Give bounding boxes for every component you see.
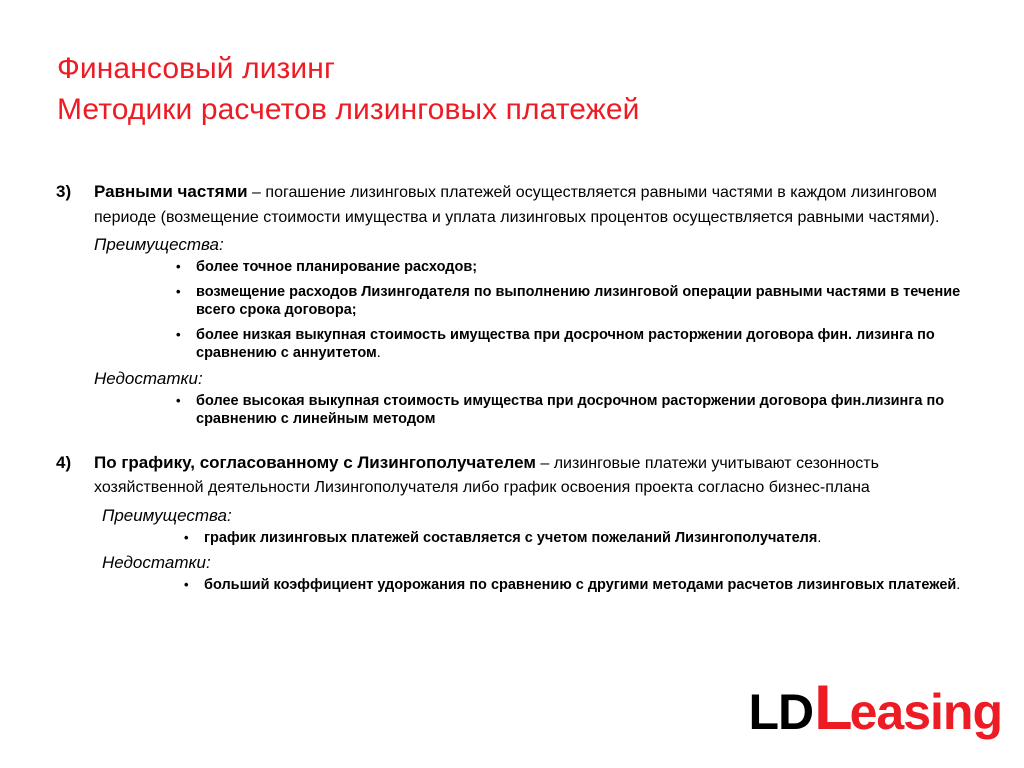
advantages-list-4: •график лизинговых платежей составляется… <box>182 529 988 548</box>
list-item: •график лизинговых платежей составляется… <box>182 529 988 548</box>
bullet-icon: • <box>176 283 181 302</box>
list-item-text: больший коэффициент удорожания по сравне… <box>204 577 956 593</box>
list-item: •более точное планирование расходов; <box>174 258 988 277</box>
bullet-icon: • <box>184 576 189 595</box>
numbered-item-3: 3) Равными частями – погашение лизинговы… <box>56 180 988 229</box>
logo-text-capital-l: L <box>814 677 849 740</box>
slide-body: 3) Равными частями – погашение лизинговы… <box>56 180 988 595</box>
item-paragraph-3: Равными частями – погашение лизинговых п… <box>94 180 988 229</box>
list-item-text: более высокая выкупная стоимость имущест… <box>196 393 944 428</box>
advantages-label-3: Преимущества: <box>94 232 988 258</box>
item-number-4: 4) <box>56 451 71 474</box>
item-lead-3: Равными частями <box>94 182 248 201</box>
list-item: •больший коэффициент удорожания по сравн… <box>182 576 988 595</box>
list-item: •возмещение расходов Лизингодателя по вы… <box>174 283 988 320</box>
slide-canvas: Финансовый лизинг Методики расчетов лизи… <box>0 0 1024 768</box>
list-item-text: более низкая выкупная стоимость имуществ… <box>196 327 935 362</box>
title-line-2: Методики расчетов лизинговых платежей <box>57 89 957 130</box>
item-paragraph-4: По графику, согласованному с Лизингополу… <box>94 451 988 500</box>
advantages-label-4: Преимущества: <box>102 503 988 529</box>
title-line-1: Финансовый лизинг <box>57 48 957 89</box>
disadvantages-label-4: Недостатки: <box>102 550 988 576</box>
disadvantages-list-3: •более высокая выкупная стоимость имущес… <box>174 392 988 429</box>
logo-text-easing: easing <box>850 687 1002 737</box>
list-item-tail: . <box>377 345 381 361</box>
advantages-list-3: •более точное планирование расходов; •во… <box>174 258 988 363</box>
item-number-3: 3) <box>56 180 71 203</box>
bullet-icon: • <box>176 392 181 411</box>
bullet-icon: • <box>184 529 189 548</box>
ldleasing-logo: LDLeasing <box>748 677 1002 740</box>
list-item-tail: . <box>956 577 960 593</box>
item-lead-4: По графику, согласованному с Лизингополу… <box>94 453 536 472</box>
list-item: • более низкая выкупная стоимость имущес… <box>174 326 988 363</box>
section-spacer <box>56 429 988 451</box>
bullet-icon: • <box>176 326 181 345</box>
list-item-tail: . <box>817 530 821 546</box>
list-item-text: возмещение расходов Лизингодателя по вып… <box>196 284 960 319</box>
list-item-text: график лизинговых платежей составляется … <box>204 530 817 546</box>
disadvantages-label-3: Недостатки: <box>94 366 988 392</box>
list-item: •более высокая выкупная стоимость имущес… <box>174 392 988 429</box>
slide-title: Финансовый лизинг Методики расчетов лизи… <box>57 48 957 130</box>
list-item-text: более точное планирование расходов; <box>196 259 477 275</box>
disadvantages-list-4: •больший коэффициент удорожания по сравн… <box>182 576 988 595</box>
numbered-item-4: 4) По графику, согласованному с Лизингоп… <box>56 451 988 500</box>
bullet-icon: • <box>176 258 181 277</box>
logo-text-ld: LD <box>748 687 813 737</box>
